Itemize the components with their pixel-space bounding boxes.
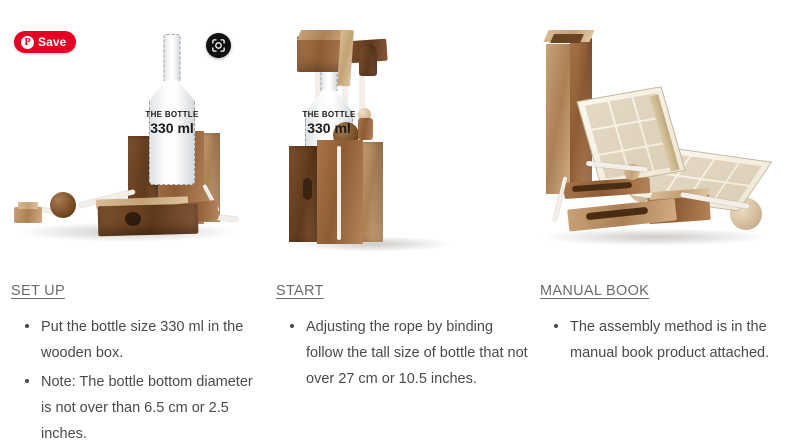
bullet-icon	[25, 379, 29, 383]
pinterest-lens-icon	[211, 38, 226, 53]
section-heading-manual-book: MANUAL BOOK	[540, 283, 649, 299]
section-heading-start: START	[276, 283, 324, 299]
bottle-label-title: THE BOTTLE	[302, 110, 355, 119]
list-item-text: Put the bottle size 330 ml in the wooden…	[41, 319, 243, 361]
section-heading-set-up: SET UP	[11, 283, 65, 299]
bottle-neck	[164, 34, 181, 81]
caption-block-start: START Adjusting the rope by binding foll…	[276, 265, 530, 447]
wood-lock-hole	[125, 212, 141, 226]
manual-step-illustration	[609, 97, 638, 124]
list-item-text: Note: The bottle bottom diameter is not …	[41, 374, 253, 442]
list-item-text: Adjusting the rope by binding follow the…	[306, 319, 528, 387]
instruction-list-set-up: Put the bottle size 330 ml in the wooden…	[11, 314, 265, 447]
wood-small-block-cap	[18, 202, 38, 209]
bottle-label: THE BOTTLE 330 ml	[302, 110, 355, 136]
wood-hook-piece	[359, 44, 377, 76]
caption-row: SET UP Put the bottle size 330 ml in the…	[0, 265, 794, 447]
caption-block-manual-book: MANUAL BOOK The assembly method is in th…	[540, 265, 794, 447]
bottle-shoulder	[149, 80, 195, 110]
bullet-icon	[554, 324, 558, 328]
list-item: Put the bottle size 330 ml in the wooden…	[41, 314, 265, 366]
list-item: The assembly method is in the manual boo…	[570, 314, 794, 366]
wood-tall-box-cavity	[550, 34, 584, 43]
photo-start: THE BOTTLE 330 ml	[265, 0, 519, 258]
wood-small-block	[14, 207, 42, 223]
wood-tall-box-front	[546, 44, 570, 194]
bottle-label: THE BOTTLE 330 ml	[145, 110, 198, 136]
wood-lock-block	[98, 204, 199, 237]
bullet-icon	[25, 324, 29, 328]
wood-bead-block	[358, 118, 373, 140]
bottle-graphic	[146, 34, 198, 184]
photo-manual-book	[530, 0, 784, 258]
instruction-list-manual-book: The assembly method is in the manual boo…	[540, 314, 794, 366]
pinterest-save-label: Save	[38, 35, 66, 49]
instruction-list-start: Adjusting the rope by binding follow the…	[276, 314, 530, 392]
list-item: Note: The bottle bottom diameter is not …	[41, 369, 265, 447]
wood-ball-dark	[50, 192, 76, 218]
rope-bottom	[337, 146, 341, 240]
wood-base-slot	[303, 178, 312, 200]
manual-step-illustration	[585, 102, 614, 129]
pinterest-save-button[interactable]: P Save	[14, 31, 76, 53]
list-item-text: The assembly method is in the manual boo…	[570, 319, 769, 361]
bottle-label-title: THE BOTTLE	[145, 110, 198, 119]
caption-block-set-up: SET UP Put the bottle size 330 ml in the…	[11, 265, 265, 447]
pinterest-icon: P	[21, 36, 34, 49]
bottle-label-volume: 330 ml	[145, 120, 198, 136]
bottle-label-volume: 330 ml	[302, 120, 355, 136]
list-item: Adjusting the rope by binding follow the…	[306, 314, 530, 392]
manual-step-illustration	[592, 127, 621, 154]
bullet-icon	[290, 324, 294, 328]
pinterest-lens-button[interactable]	[206, 33, 231, 58]
